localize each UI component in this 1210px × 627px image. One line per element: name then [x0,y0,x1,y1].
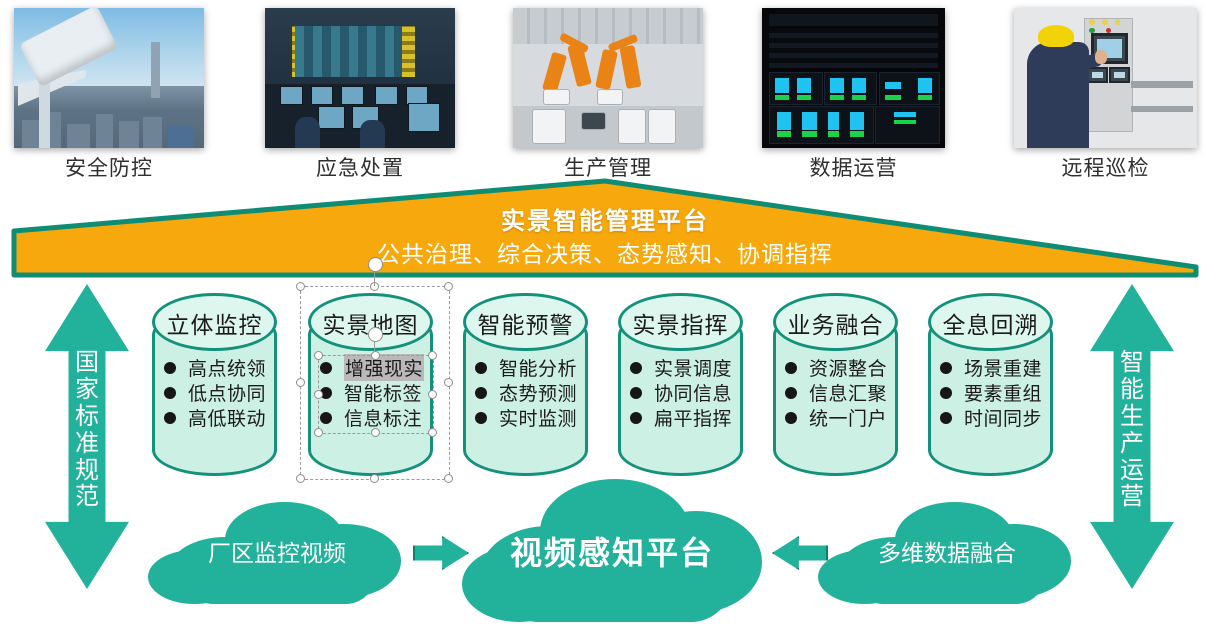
bullet-label: 高低联动 [188,404,266,431]
selection-handle[interactable] [444,282,453,291]
cylinder-bullet-list: 资源整合 信息汇聚 统一门户 [785,355,892,430]
text-rotate-handle-icon[interactable] [368,327,383,342]
capability-cylinder-0[interactable]: 立体监控 高点统领 低点协同 高低联动 [152,293,277,476]
selection-handle[interactable] [444,474,453,483]
list-item: 扁平指挥 [630,405,737,430]
cylinder-bullet-list[interactable]: 增强现实 智能标签 信息标注 [320,355,427,430]
selection-handle[interactable] [296,282,305,291]
list-item: 智能分析 [475,355,582,380]
bullet-label: 信息汇聚 [809,379,887,406]
capability-cylinder-3[interactable]: 实景指挥 实景调度 协同信息 扁平指挥 [618,293,743,476]
right-arrow-label: 智能生产运营 [1112,350,1152,511]
slide-canvas: 安全防控 应急处置 [0,0,1210,627]
bullet-dot-icon [940,412,952,424]
capability-cylinder-5[interactable]: 全息回溯 场景重建 要素重组 时间同步 [928,293,1053,476]
capability-cylinder-4[interactable]: 业务融合 资源整合 信息汇聚 统一门户 [773,293,898,476]
cctv-camera-over-city-skyline-image [14,8,204,148]
cylinder-title: 业务融合 [773,306,898,340]
bullet-dot-icon [785,362,797,374]
list-item: 资源整合 [785,355,892,380]
rotate-handle-icon[interactable] [368,257,383,272]
banner-title: 实景智能管理平台 [0,201,1210,236]
cylinder-bullet-list: 高点统领 低点协同 高低联动 [164,355,271,430]
list-item: 信息汇聚 [785,380,892,405]
bullet-label: 实时监测 [499,404,577,431]
list-item: 信息标注 [320,405,427,430]
bullet-label: 态势预测 [499,379,577,406]
cylinder-bullet-list: 实景调度 协同信息 扁平指挥 [630,355,737,430]
text-frame-handle[interactable] [428,428,437,437]
text-frame-handle[interactable] [371,428,380,437]
arrow-right-icon [413,536,469,570]
selection-handle[interactable] [296,474,305,483]
text-frame-handle[interactable] [314,351,323,360]
bullet-label: 统一门户 [809,404,887,431]
bullet-label: 扁平指挥 [654,404,732,431]
bullet-dot-icon [940,362,952,374]
bullet-dot-icon [630,362,642,374]
bullet-label: 资源整合 [809,354,887,381]
bullet-label-selected[interactable]: 增强现实 [344,354,424,381]
bullet-label: 高点统领 [188,354,266,381]
cylinder-bullet-list: 场景重建 要素重组 时间同步 [940,355,1047,430]
list-item: 实景调度 [630,355,737,380]
list-item: 智能标签 [320,380,427,405]
bullet-dot-icon [785,387,797,399]
list-item: 实时监测 [475,405,582,430]
text-frame-handle[interactable] [371,351,380,360]
bullet-label: 智能标签 [344,379,422,406]
capability-cylinder-1[interactable]: 实景地图 增强现实 智能标签 信息标注 [308,293,433,476]
center-platform-cloud[interactable]: 视频感知平台 [462,476,762,622]
center-cloud-label: 视频感知平台 [462,528,762,574]
bullet-dot-icon [164,412,176,424]
bullet-dot-icon [785,412,797,424]
cylinder-title: 全息回溯 [928,306,1053,340]
source-video-cloud[interactable]: 厂区监控视频 [148,496,406,604]
bullet-label: 实景调度 [654,354,732,381]
photo-card-2[interactable] [513,8,703,148]
selection-handle[interactable] [370,474,379,483]
worker-inspecting-control-panel-image [1014,8,1197,148]
list-item: 协同信息 [630,380,737,405]
platform-banner[interactable]: 实景智能管理平台 公共治理、综合决策、态势感知、协调指挥 [0,175,1210,285]
left-arrow-label: 国家标准规范 [67,350,107,511]
text-frame-handle[interactable] [428,390,437,399]
bullet-label: 场景重建 [964,354,1042,381]
bullet-dot-icon [320,412,332,424]
bullet-label: 智能分析 [499,354,577,381]
text-frame-handle[interactable] [314,428,323,437]
bullet-label: 时间同步 [964,404,1042,431]
photo-card-3[interactable] [762,8,945,148]
list-item: 态势预测 [475,380,582,405]
list-item: 高低联动 [164,405,271,430]
data-cloud-label: 多维数据融合 [818,534,1076,568]
list-item: 时间同步 [940,405,1047,430]
source-cloud-label: 厂区监控视频 [148,534,406,568]
bullet-label: 信息标注 [344,404,422,431]
photo-card-1[interactable] [265,8,455,148]
bullet-dot-icon [164,362,176,374]
selection-handle[interactable] [296,378,305,387]
photo-card-0[interactable] [14,8,204,148]
bullet-dot-icon [320,362,332,374]
banner-subtitle: 公共治理、综合决策、态势感知、协调指挥 [0,235,1210,269]
capability-cylinder-2[interactable]: 智能预警 智能分析 态势预测 实时监测 [463,293,588,476]
text-frame-handle[interactable] [314,390,323,399]
bullet-label: 协同信息 [654,379,732,406]
bullet-dot-icon [475,362,487,374]
bullet-label: 要素重组 [964,379,1042,406]
dark-data-operations-dashboard-image [762,8,945,148]
bullet-label: 低点协同 [188,379,266,406]
bullet-dot-icon [475,387,487,399]
list-item: 统一门户 [785,405,892,430]
cylinder-title: 实景指挥 [618,306,743,340]
bullet-dot-icon [940,387,952,399]
photo-card-4[interactable] [1014,8,1197,148]
selection-handle[interactable] [444,378,453,387]
list-item: 场景重建 [940,355,1047,380]
robotic-assembly-line-factory-image [513,8,703,148]
data-fusion-cloud[interactable]: 多维数据融合 [818,496,1076,604]
cylinder-title: 智能预警 [463,306,588,340]
emergency-command-control-room-image [265,8,455,148]
list-item: 高点统领 [164,355,271,380]
bullet-dot-icon [630,387,642,399]
bullet-dot-icon [475,412,487,424]
bullet-dot-icon [164,387,176,399]
text-frame-handle[interactable] [428,351,437,360]
list-item: 低点协同 [164,380,271,405]
cylinder-bullet-list: 智能分析 态势预测 实时监测 [475,355,582,430]
list-item: 要素重组 [940,380,1047,405]
bullet-dot-icon [630,412,642,424]
cylinder-title: 立体监控 [152,306,277,340]
